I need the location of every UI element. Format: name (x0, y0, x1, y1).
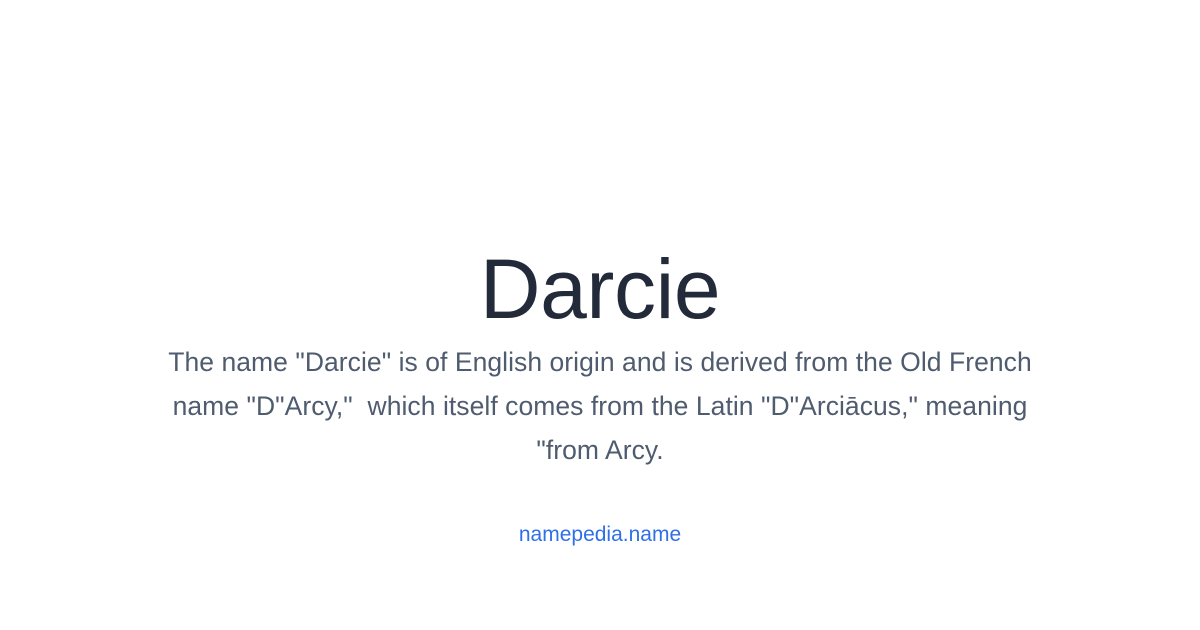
site-link[interactable]: namepedia.name (0, 521, 1200, 549)
name-origin-description: The name "Darcie" is of English origin a… (150, 340, 1050, 472)
page-title: Darcie (0, 242, 1200, 336)
name-info-card: Darcie The name "Darcie" is of English o… (0, 0, 1200, 630)
